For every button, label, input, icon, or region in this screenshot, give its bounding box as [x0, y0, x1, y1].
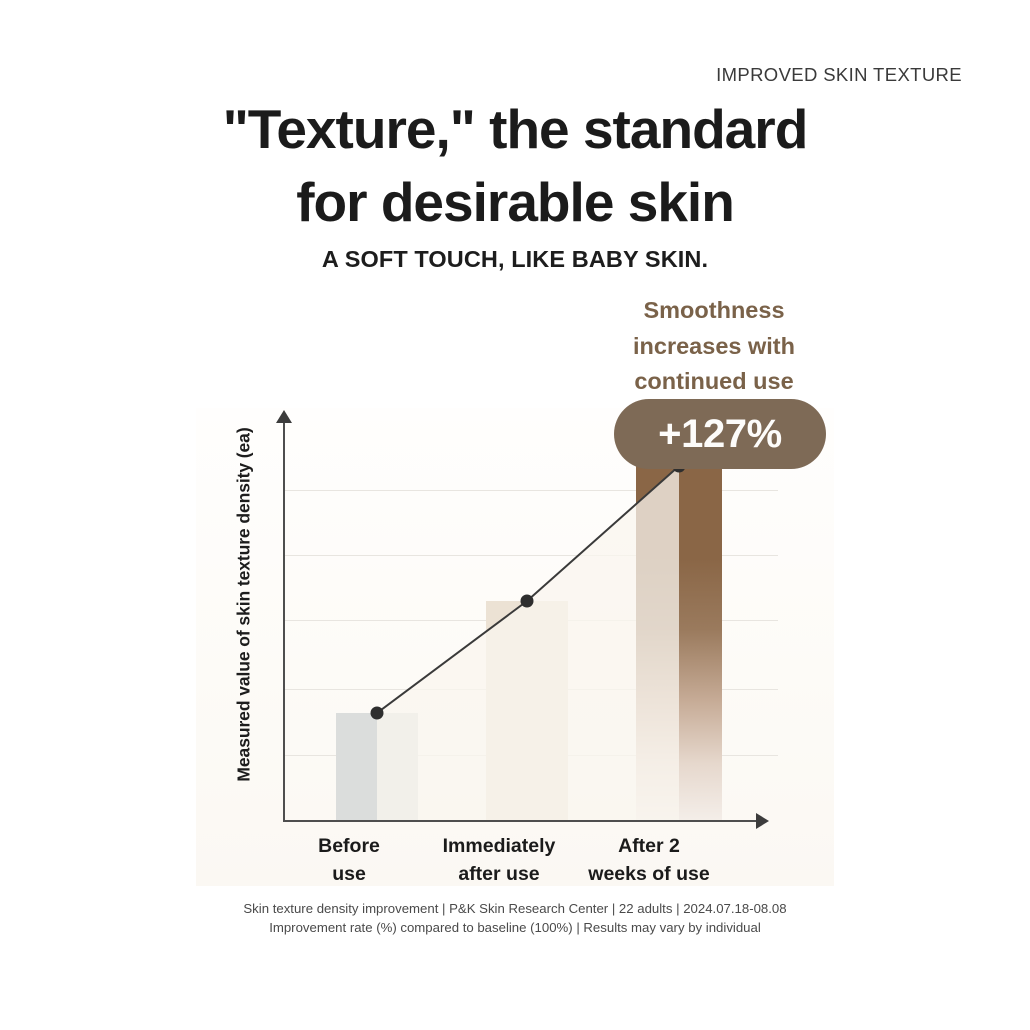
- footnote-line-2: Improvement rate (%) compared to baselin…: [0, 918, 1030, 937]
- x-label-line: Immediately: [424, 833, 574, 861]
- y-axis-label: Measured value of skin texture density (…: [234, 405, 255, 805]
- trend-line-layer: [196, 408, 834, 886]
- x-axis-label-before-use: Before use: [274, 833, 424, 888]
- x-axis-labels: Before use Immediately after use After 2…: [284, 833, 778, 888]
- footnote: Skin texture density improvement | P&K S…: [0, 899, 1030, 937]
- footnote-line-1: Skin texture density improvement | P&K S…: [0, 899, 1030, 918]
- trend-area-fill: [377, 466, 679, 821]
- y-axis-arrow-icon: [276, 410, 292, 423]
- x-label-line: use: [274, 861, 424, 889]
- annotation-line-1: Smoothness: [596, 293, 832, 329]
- headline-line-2: for desirable skin: [0, 166, 1030, 239]
- page-title: "Texture," the standard for desirable sk…: [0, 93, 1030, 238]
- bar-chart: Measured value of skin texture density (…: [196, 408, 834, 886]
- annotation-text: Smoothness increases with continued use: [596, 293, 832, 400]
- x-axis-arrow-icon: [756, 813, 769, 829]
- annotation-line-2: increases with: [596, 329, 832, 365]
- improvement-badge: +127%: [614, 399, 826, 469]
- eyebrow-label: IMPROVED SKIN TEXTURE: [716, 64, 962, 86]
- data-point-marker: [521, 595, 534, 608]
- data-point-marker: [371, 707, 384, 720]
- x-label-line: Before: [274, 833, 424, 861]
- improvement-badge-value: +127%: [658, 412, 782, 457]
- headline-line-1: "Texture," the standard: [223, 98, 808, 160]
- x-axis-line: [283, 820, 758, 822]
- x-axis-label-immediately-after-use: Immediately after use: [424, 833, 574, 888]
- x-label-line: after use: [424, 861, 574, 889]
- x-label-line: weeks of use: [574, 861, 724, 889]
- x-axis-label-after-2-weeks: After 2 weeks of use: [574, 833, 724, 888]
- y-axis-line: [283, 422, 285, 822]
- subheading: A SOFT TOUCH, LIKE BABY SKIN.: [0, 246, 1030, 273]
- annotation-line-3: continued use: [596, 364, 832, 400]
- x-label-line: After 2: [574, 833, 724, 861]
